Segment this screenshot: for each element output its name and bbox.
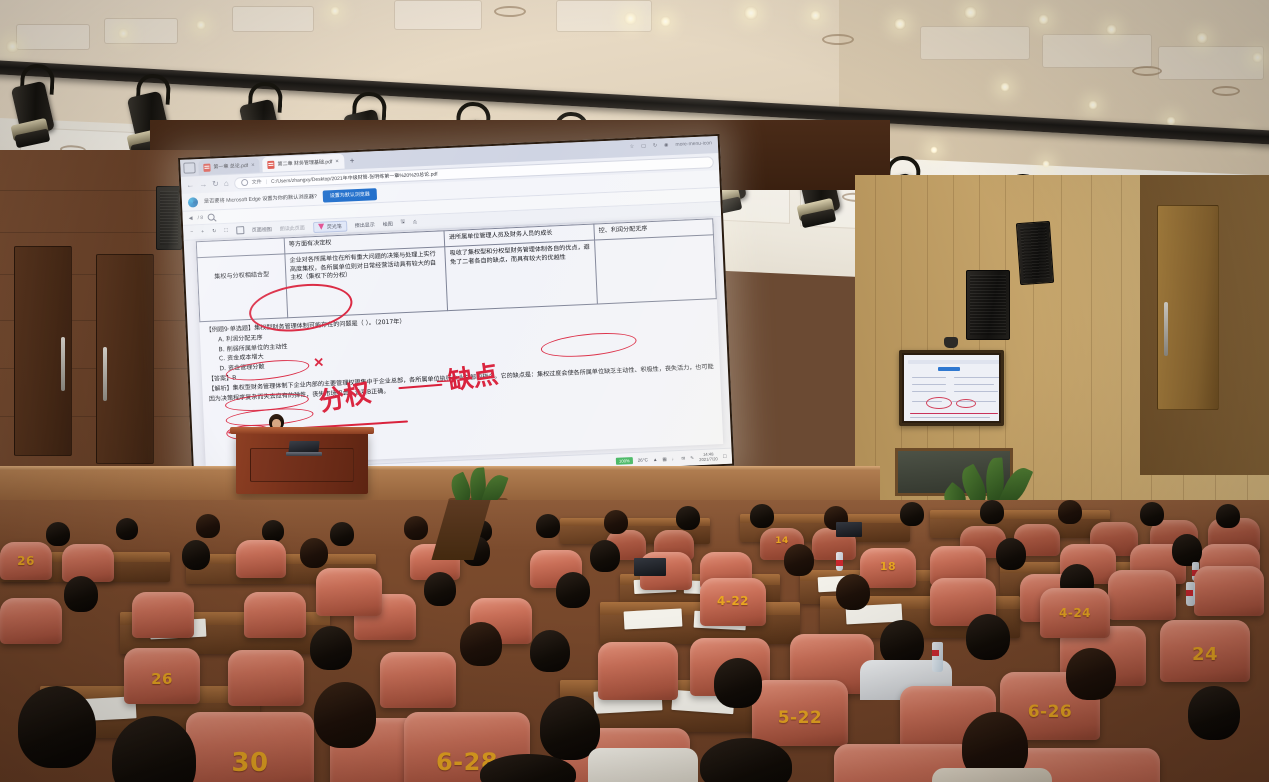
collections-icon[interactable]: ▢ <box>641 143 646 149</box>
browser-tab-1[interactable]: 第一章 总论.pdf × <box>198 157 260 175</box>
loudspeaker-right-upper <box>1016 221 1054 285</box>
audience-head-foreground <box>18 686 96 768</box>
auxiliary-display <box>899 350 1004 426</box>
seat: 4-22 <box>700 578 766 626</box>
back-icon[interactable]: ← <box>186 181 194 189</box>
edge-logo-icon <box>188 197 198 207</box>
audience-head <box>310 626 352 670</box>
loudspeaker-left <box>156 186 182 250</box>
table-cell <box>595 235 717 304</box>
right-door[interactable] <box>1157 205 1219 410</box>
table-cell: 集权与分权相结合型 <box>197 254 288 322</box>
seat-number: 26 <box>124 670 200 688</box>
taskbar-clock[interactable]: 14:48 2021/7/20 <box>699 452 718 462</box>
audience-head <box>424 572 456 606</box>
battery-indicator[interactable]: 100% <box>616 457 633 465</box>
highlight-label: 荧光笔 <box>327 222 342 230</box>
seat-number: 5-22 <box>752 708 848 728</box>
audience-head <box>300 538 328 568</box>
podium-top <box>230 427 374 434</box>
audience-head <box>404 516 428 540</box>
notification-icon[interactable]: ☐ <box>723 453 727 459</box>
browser-tab-2[interactable]: 第二章 财务管理基础.pdf × <box>262 154 344 173</box>
home-icon[interactable]: ⌂ <box>224 179 229 187</box>
erase-label[interactable]: 擦出显示 <box>355 221 375 229</box>
close-icon[interactable]: × <box>251 162 255 168</box>
chevron-up-icon[interactable]: ▲ <box>653 457 658 462</box>
audience-head <box>980 500 1004 524</box>
audience-head <box>604 510 628 534</box>
audience-head <box>750 504 774 528</box>
page-view-label[interactable]: 页面视图 <box>252 225 272 233</box>
audience-head <box>460 622 502 666</box>
auditorium-photo: 第一章 总论.pdf × 第二章 财务管理基础.pdf × + ← → ↻ ⌂ <box>0 0 1269 782</box>
audience-head <box>1058 500 1082 524</box>
seat: 24 <box>1160 620 1250 682</box>
page-view-icon[interactable] <box>236 226 244 234</box>
highlighter-tool[interactable]: 荧光笔 <box>313 220 347 233</box>
read-aloud-label[interactable]: 朗读此页面 <box>280 224 305 232</box>
audience-head <box>1066 648 1116 700</box>
audience-head <box>536 514 560 538</box>
zoom-in-icon[interactable]: + <box>201 229 204 235</box>
file-icon <box>241 179 248 186</box>
highlighter-icon <box>318 224 324 230</box>
audience-head <box>1140 502 1164 526</box>
seat <box>228 650 304 706</box>
system-tray: 100% 26°C ▲ ▦ ♩ ✉ ✎ 14:48 2021/7/20 ☐ <box>616 452 727 467</box>
water-bottle <box>932 642 943 672</box>
seat: 18 <box>860 548 916 588</box>
seat <box>244 592 306 638</box>
rotate-icon[interactable]: ↻ <box>212 228 216 234</box>
seat: 4-24 <box>1040 588 1110 638</box>
seat: 26 <box>124 648 200 704</box>
seat <box>598 642 678 700</box>
loudspeaker-right <box>966 270 1010 340</box>
audience-laptop <box>634 558 666 576</box>
audience-head <box>784 544 814 576</box>
audience-head <box>966 614 1010 660</box>
infobar-message: 是否要将 Microsoft Edge 设置为你的默认浏览器? <box>204 193 317 205</box>
seat: 5-22 <box>752 680 848 746</box>
audience-head <box>590 540 620 572</box>
new-tab-button[interactable]: + <box>347 156 358 165</box>
seat <box>132 592 194 638</box>
audience-head <box>996 538 1026 570</box>
seat: 30 <box>186 712 314 782</box>
search-icon[interactable] <box>208 213 215 220</box>
seat-number: 24 <box>1160 644 1250 665</box>
presenter-laptop <box>286 441 322 457</box>
reload-icon[interactable]: ↻ <box>212 180 219 188</box>
audience-head <box>262 520 284 542</box>
seat <box>1194 566 1264 616</box>
favorites-icon[interactable]: ☆ <box>630 144 635 150</box>
close-icon[interactable]: × <box>335 158 339 164</box>
profile-icon[interactable]: ◉ <box>664 142 669 148</box>
audience-head <box>64 576 98 612</box>
audience-head <box>1216 504 1240 528</box>
seat-number: 30 <box>186 748 314 778</box>
audience-head <box>116 518 138 540</box>
seat <box>236 540 286 578</box>
browser-tab-2-label: 第二章 财务管理基础.pdf <box>277 158 332 167</box>
left-door-a[interactable] <box>14 246 72 456</box>
address-separator: | <box>266 179 268 185</box>
audience-head <box>836 574 870 610</box>
print-icon[interactable]: ⎙ <box>413 219 417 225</box>
draw-label[interactable]: 绘图 <box>383 220 393 227</box>
seat-number: 26 <box>0 554 52 568</box>
audience-shoulders <box>932 768 1052 782</box>
seat <box>62 544 114 582</box>
seat <box>380 652 456 708</box>
network-icon[interactable]: ▦ <box>662 456 667 462</box>
audience-head <box>530 630 570 672</box>
audience-head <box>714 658 762 708</box>
more-menu-icon[interactable]: more-menu-icon <box>675 140 712 148</box>
window-restore-icon[interactable] <box>183 162 195 174</box>
spotlight-fixture <box>12 63 60 151</box>
address-scheme-chip: 文件 <box>252 178 262 185</box>
auxiliary-ink-mark <box>926 397 952 409</box>
save-icon[interactable]: 🖫 <box>401 219 406 227</box>
set-default-browser-button[interactable]: 设置为默认浏览器 <box>323 188 377 202</box>
water-bottle <box>836 552 843 571</box>
fit-page-icon[interactable]: ⛶ <box>224 228 228 234</box>
page-prev-icon[interactable]: ◀ <box>189 215 193 221</box>
zoom-out-icon[interactable]: − <box>190 229 193 235</box>
auxiliary-ink-mark <box>956 399 976 408</box>
browser-tab-1-label: 第一章 总论.pdf <box>213 162 248 171</box>
ceiling-camera <box>944 337 958 348</box>
audience-area: 14 <box>0 500 1269 782</box>
water-bottle <box>1186 582 1195 606</box>
pdf-file-icon <box>203 163 210 171</box>
pdf-file-icon <box>267 160 274 168</box>
seat <box>0 598 62 644</box>
pen-icon[interactable]: ✎ <box>690 455 694 461</box>
audience-head <box>1188 686 1240 740</box>
seat <box>1108 570 1176 620</box>
ime-icon[interactable]: ✉ <box>681 455 685 461</box>
audience-head <box>556 572 590 608</box>
audience-head <box>676 506 700 530</box>
audience-head <box>196 514 220 538</box>
audience-head-foreground <box>314 682 376 748</box>
seat <box>316 568 382 616</box>
history-icon[interactable]: ↻ <box>653 143 657 149</box>
auxiliary-display-content <box>904 355 999 421</box>
clock-date: 2021/7/20 <box>699 456 718 462</box>
audience-shoulders <box>588 748 698 782</box>
page-indicator: / 8 <box>197 214 203 220</box>
audience-laptop <box>836 522 862 537</box>
audience-head <box>330 522 354 546</box>
left-door-b[interactable] <box>96 254 154 464</box>
seat: 26 <box>0 542 52 580</box>
table-cell: 企业对各所属单位在所有重大问题的决策与处理上实行高度集权，各所属单位则对日常经营… <box>285 247 448 318</box>
volume-icon[interactable]: ♩ <box>672 456 677 461</box>
forward-icon[interactable]: → <box>199 180 207 188</box>
seat-number: 18 <box>860 560 916 573</box>
audience-head <box>46 522 70 546</box>
weather-indicator[interactable]: 26°C <box>638 457 648 462</box>
audience-head <box>900 502 924 526</box>
table-cell: 吸收了集权型和分权型财务管理体制各自的优点，避免了二者各自的缺点，而具有较大的优… <box>445 240 598 311</box>
audience-head <box>182 540 210 570</box>
seat-number: 4-22 <box>700 594 766 608</box>
seat-number: 4-24 <box>1040 606 1110 620</box>
